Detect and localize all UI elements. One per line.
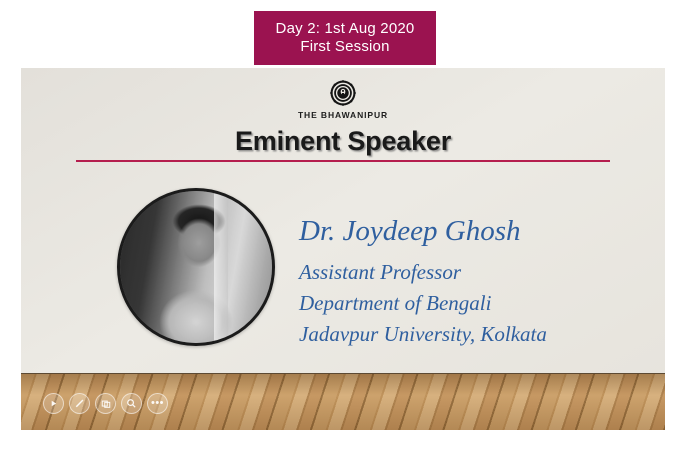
bhawanipur-crest-icon bbox=[330, 80, 356, 106]
slides-button[interactable] bbox=[95, 393, 116, 414]
speaker-institution: Jadavpur University, Kolkata bbox=[299, 319, 547, 350]
pen-icon bbox=[74, 398, 85, 409]
page-title: Eminent Speaker bbox=[21, 126, 665, 157]
play-button[interactable] bbox=[43, 393, 64, 414]
institution-wordmark: THE BHAWANIPUR bbox=[298, 110, 388, 120]
session-banner: Day 2: 1st Aug 2020 First Session bbox=[254, 11, 436, 65]
speaker-designation: Assistant Professor bbox=[299, 257, 547, 288]
speaker-details: Dr. Joydeep Ghosh Assistant Professor De… bbox=[299, 216, 547, 350]
play-icon bbox=[49, 399, 58, 408]
speaker-name: Dr. Joydeep Ghosh bbox=[299, 216, 547, 248]
speaker-department: Department of Bengali bbox=[299, 288, 547, 319]
ellipsis-icon: ••• bbox=[151, 398, 164, 409]
speaker-photo-image bbox=[120, 191, 272, 343]
institution-logo: THE BHAWANIPUR bbox=[21, 80, 665, 120]
banner-date-line: Day 2: 1st Aug 2020 bbox=[276, 20, 415, 38]
grid-slides-icon bbox=[101, 399, 111, 409]
magnifier-icon bbox=[126, 398, 137, 409]
more-options-button[interactable]: ••• bbox=[147, 393, 168, 414]
slideshow-controls: ••• bbox=[43, 393, 168, 414]
title-divider bbox=[76, 160, 610, 162]
speaker-portrait bbox=[117, 188, 275, 346]
zoom-button[interactable] bbox=[121, 393, 142, 414]
pen-button[interactable] bbox=[69, 393, 90, 414]
presentation-slide[interactable]: THE BHAWANIPUR Eminent Speaker Dr. Joyde… bbox=[21, 68, 665, 430]
banner-session-line: First Session bbox=[300, 38, 389, 56]
